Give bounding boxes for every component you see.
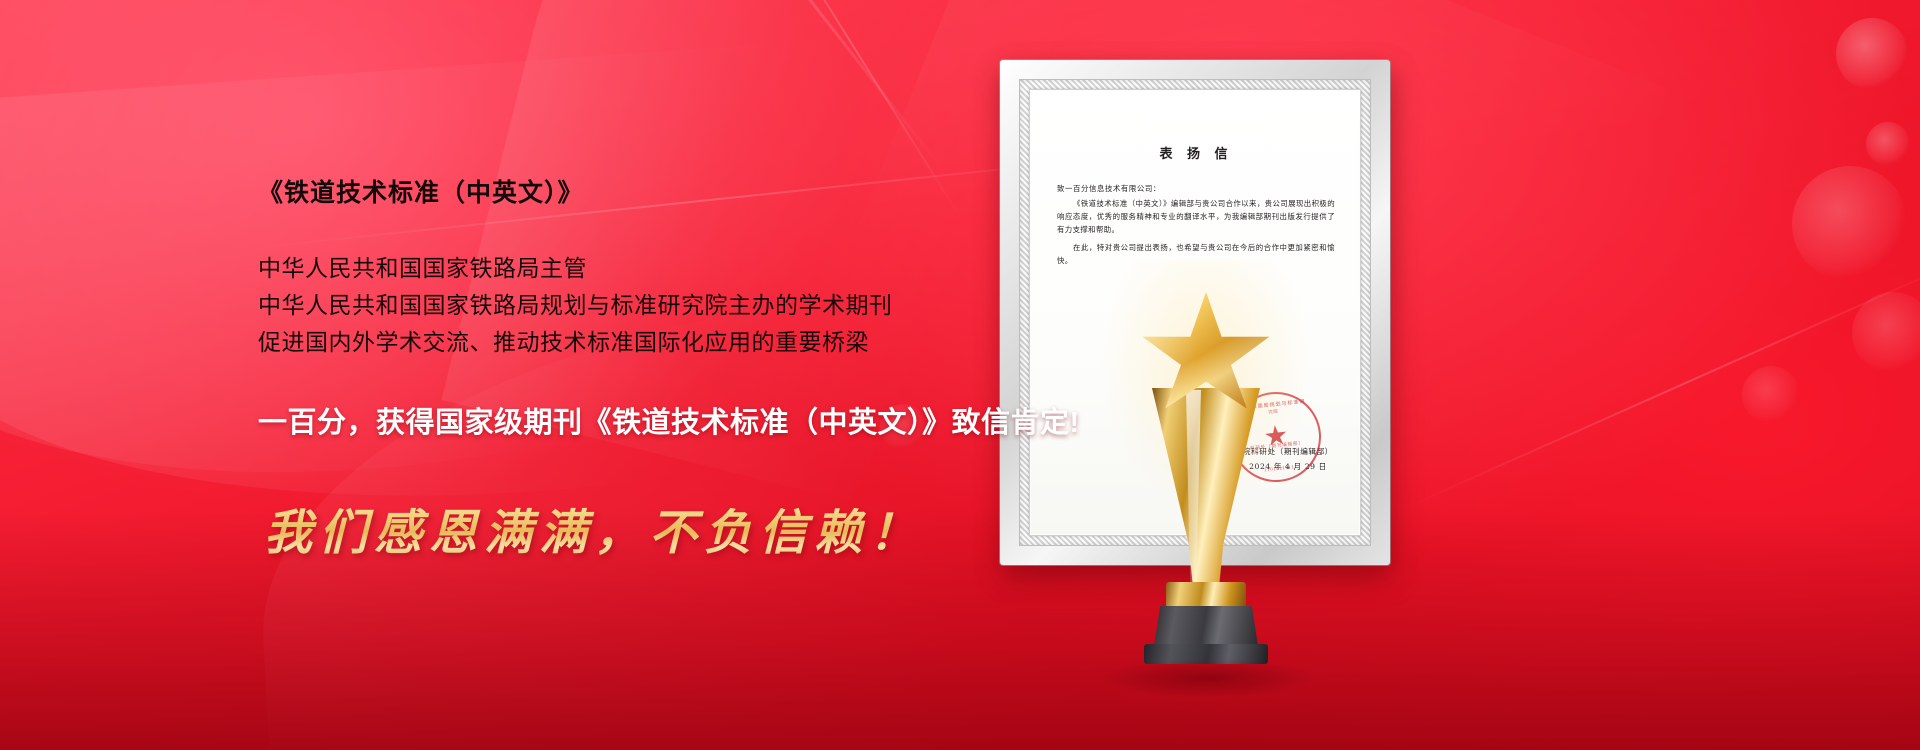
journal-title: 《铁道技术标准（中英文）》	[258, 178, 1198, 208]
trophy-base-gold	[1166, 582, 1246, 608]
trophy-base-dark	[1154, 606, 1258, 646]
letter-title: 表 扬 信	[1057, 143, 1335, 162]
bokeh-circle-1	[1836, 18, 1908, 90]
headline: 一百分，获得国家级期刊《铁道技术标准（中英文）》致信肯定!	[258, 399, 1198, 441]
text-block: 《铁道技术标准（中英文）》 中华人民共和国国家铁路局主管 中华人民共和国国家铁路…	[258, 178, 1198, 563]
calligraphy-slogan: 我们感恩满满，不负信赖！	[264, 493, 1198, 563]
award-banner: 《铁道技术标准（中英文）》 中华人民共和国国家铁路局主管 中华人民共和国国家铁路…	[0, 0, 1920, 750]
description-line-3: 促进国内外学术交流、推动技术标准国际化应用的重要桥梁	[258, 324, 1198, 361]
bokeh-circle-3	[1792, 166, 1908, 282]
bokeh-circle-2	[1866, 122, 1910, 166]
description-line-1: 中华人民共和国国家铁路局主管	[258, 250, 1198, 287]
bokeh-circle-5	[1742, 366, 1800, 424]
trophy-ground-shadow	[1100, 658, 1315, 698]
description-line-2: 中华人民共和国国家铁路局规划与标准研究院主办的学术期刊	[258, 287, 1198, 324]
gold-star-trophy-icon	[1130, 300, 1280, 690]
